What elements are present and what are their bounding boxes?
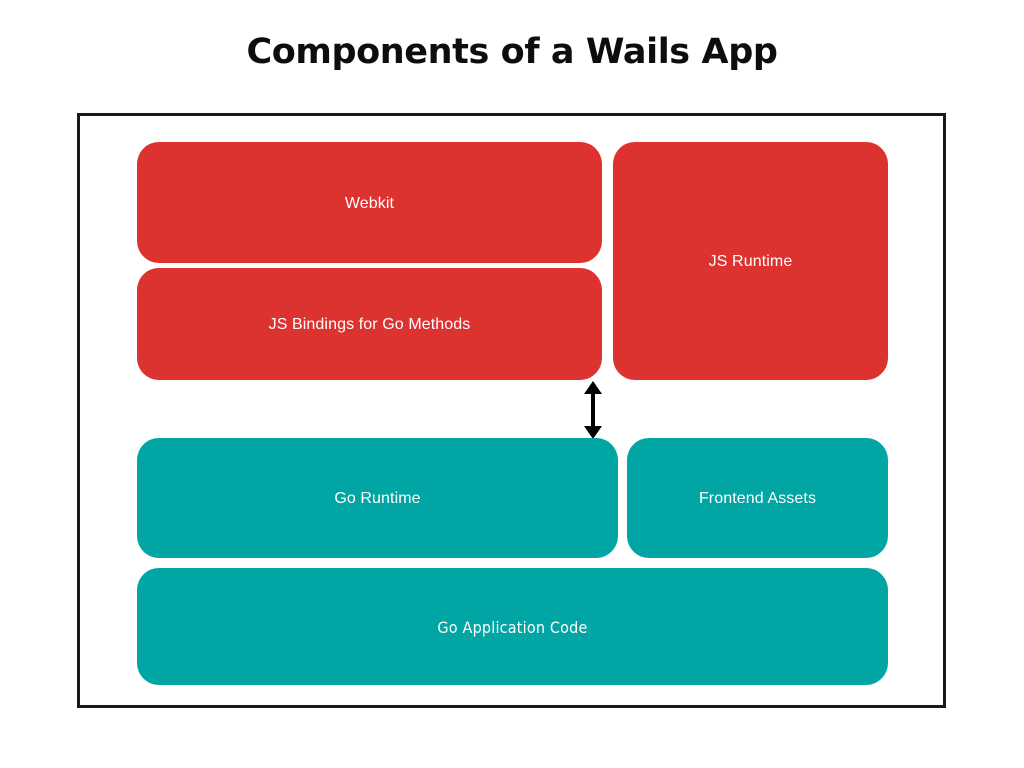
block-go-runtime-label: Go Runtime (334, 489, 420, 509)
block-frontend-assets-label: Frontend Assets (699, 489, 816, 509)
wails-app-container: Webkit JS Bindings for Go Methods JS Run… (77, 113, 946, 708)
block-js-runtime[interactable]: JS Runtime (613, 142, 888, 380)
block-js-runtime-label: JS Runtime (709, 252, 793, 272)
block-js-bindings-label: JS Bindings for Go Methods (269, 315, 471, 335)
block-webkit[interactable]: Webkit (137, 142, 602, 263)
bidirectional-arrow-icon (578, 381, 608, 439)
page-title: Components of a Wails App (0, 30, 1024, 74)
block-frontend-assets[interactable]: Frontend Assets (627, 438, 888, 558)
block-webkit-label: Webkit (345, 194, 394, 214)
block-js-bindings[interactable]: JS Bindings for Go Methods (137, 268, 602, 380)
block-go-runtime[interactable]: Go Runtime (137, 438, 618, 558)
diagram-canvas: Components of a Wails App Webkit JS Bind… (0, 0, 1024, 768)
block-go-application-code-label: Go Application Code (437, 618, 587, 638)
block-go-application-code[interactable]: Go Application Code (137, 568, 888, 685)
